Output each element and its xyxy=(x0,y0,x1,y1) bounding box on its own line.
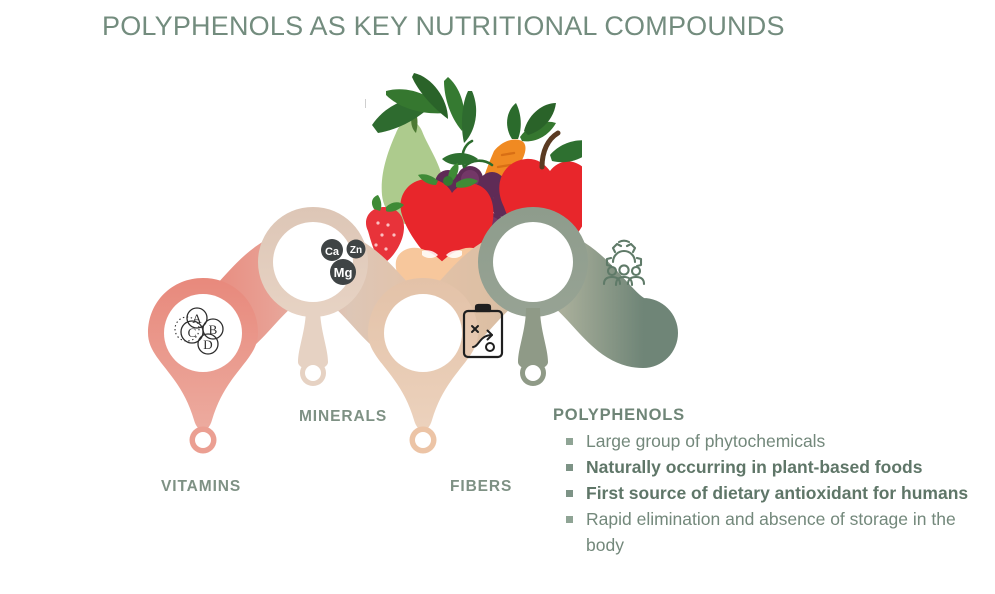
clipboard-strategy-icon xyxy=(451,301,515,365)
bullet-square-icon xyxy=(566,464,573,471)
svg-text:B: B xyxy=(209,322,218,337)
page-title: POLYPHENOLS AS KEY NUTRITIONAL COMPOUNDS xyxy=(102,11,785,42)
slide-canvas: POLYPHENOLS AS KEY NUTRITIONAL COMPOUNDS xyxy=(0,0,995,594)
polyphenols-bullet-list: Large group of phytochemicals Naturally … xyxy=(553,428,985,558)
svg-text:A: A xyxy=(192,311,202,326)
leaves-left xyxy=(372,73,476,143)
list-item: Rapid elimination and absence of storage… xyxy=(553,506,985,558)
svg-text:C: C xyxy=(188,325,197,340)
list-item: First source of dietary antioxidant for … xyxy=(553,480,985,506)
svg-text:Mg: Mg xyxy=(334,265,353,280)
list-item: Large group of phytochemicals xyxy=(553,428,985,454)
vitamin-molecules-icon: A B C D xyxy=(170,299,236,365)
bullet-square-icon xyxy=(566,490,573,497)
list-item-text: Large group of phytochemicals xyxy=(586,431,825,451)
label-fibers: FIBERS xyxy=(450,478,512,496)
list-item-text: Rapid elimination and absence of storage… xyxy=(586,509,956,555)
polyphenols-heading: POLYPHENOLS xyxy=(553,406,985,425)
label-vitamins: VITAMINS xyxy=(161,478,241,496)
list-item: Naturally occurring in plant-based foods xyxy=(553,454,985,480)
label-minerals: MINERALS xyxy=(299,408,387,426)
polyphenols-panel: POLYPHENOLS Large group of phytochemical… xyxy=(553,406,985,558)
list-item-text: Naturally occurring in plant-based foods xyxy=(586,457,922,477)
bullet-square-icon xyxy=(566,438,573,445)
team-gear-icon xyxy=(591,228,657,294)
mineral-elements-icon: Ca Zn Mg xyxy=(311,228,377,294)
svg-text:D: D xyxy=(203,337,212,352)
svg-text:Zn: Zn xyxy=(350,245,362,256)
list-item-text: First source of dietary antioxidant for … xyxy=(586,483,968,503)
svg-text:Ca: Ca xyxy=(325,246,340,258)
bullet-square-icon xyxy=(566,516,573,523)
